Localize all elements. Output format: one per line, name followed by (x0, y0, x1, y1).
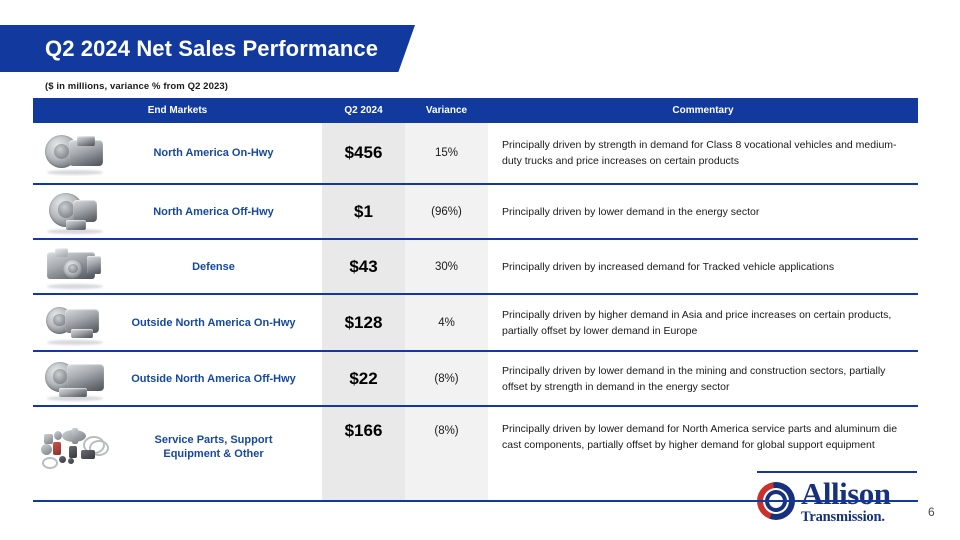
row-thumbnail (33, 352, 111, 405)
end-market-label-line2: Equipment & Other (163, 448, 263, 460)
transmission-on-hwy-icon (43, 133, 107, 173)
end-market-label: Defense (111, 260, 322, 274)
defense-transmission-icon (43, 247, 107, 287)
page-title: Q2 2024 Net Sales Performance (0, 36, 378, 62)
end-market-label: North America Off-Hwy (111, 205, 322, 219)
row-thumbnail (33, 123, 111, 183)
row-thumbnail (33, 295, 111, 350)
end-market-label: Outside North America On-Hwy (111, 316, 322, 330)
row-thumbnail (33, 407, 111, 487)
column-header-end-markets: End Markets (33, 105, 322, 116)
table-header-row: End Markets Q2 2024 Variance Commentary (33, 98, 918, 123)
end-market-label: North America On-Hwy (111, 146, 322, 160)
page-number: 6 (928, 505, 935, 519)
cell-end-market: Outside North America On-Hwy (33, 295, 322, 350)
cell-q2-value: $22 (322, 352, 405, 405)
cell-q2-value: $456 (322, 123, 405, 183)
cell-q2-value: $1 (322, 185, 405, 238)
table-bottom-rule (33, 500, 918, 502)
cell-commentary: Principally driven by increased demand f… (488, 240, 918, 293)
end-market-label: Outside North America Off-Hwy (111, 372, 322, 386)
cell-variance-value: (8%) (405, 407, 488, 487)
transmission-off-hwy-icon (43, 192, 107, 232)
row-thumbnail (33, 240, 111, 293)
cell-end-market: Service Parts, Support Equipment & Other (33, 407, 322, 487)
table-row: Outside North America Off-Hwy $22 (8%) P… (33, 352, 918, 407)
net-sales-table: End Markets Q2 2024 Variance Commentary … (33, 98, 918, 502)
table-body: North America On-Hwy $456 15% Principall… (33, 123, 918, 487)
table-row: North America On-Hwy $456 15% Principall… (33, 123, 918, 185)
cell-variance-value: 4% (405, 295, 488, 350)
cell-commentary: Principally driven by higher demand in A… (488, 295, 918, 350)
slide-subtitle: ($ in millions, variance % from Q2 2023) (45, 81, 228, 92)
cell-variance-value: (96%) (405, 185, 488, 238)
cell-q2-value: $43 (322, 240, 405, 293)
table-row: Defense $43 30% Principally driven by in… (33, 240, 918, 295)
column-header-commentary: Commentary (488, 105, 918, 116)
cell-variance-value: (8%) (405, 352, 488, 405)
cell-commentary: Principally driven by lower demand in th… (488, 185, 918, 238)
logo-secondary-text: Transmission. (801, 510, 891, 525)
cell-variance-value: 30% (405, 240, 488, 293)
cell-q2-value: $166 (322, 407, 405, 487)
slide-title-banner: Q2 2024 Net Sales Performance (0, 25, 415, 72)
cell-end-market: Outside North America Off-Hwy (33, 352, 322, 405)
cell-end-market: North America Off-Hwy (33, 185, 322, 238)
table-row: North America Off-Hwy $1 (96%) Principal… (33, 185, 918, 240)
cell-commentary: Principally driven by strength in demand… (488, 123, 918, 183)
cell-end-market: Defense (33, 240, 322, 293)
service-parts-icon (39, 426, 111, 468)
end-market-label: Service Parts, Support Equipment & Other (111, 433, 322, 461)
cell-end-market: North America On-Hwy (33, 123, 322, 183)
end-market-label-line1: Service Parts, Support (155, 434, 273, 446)
column-header-variance: Variance (405, 105, 488, 116)
transmission-outside-off-hwy-icon (43, 359, 107, 399)
table-row: Service Parts, Support Equipment & Other… (33, 407, 918, 487)
transmission-outside-on-hwy-icon (43, 303, 107, 343)
row-thumbnail (33, 185, 111, 238)
cell-commentary: Principally driven by lower demand for N… (488, 407, 918, 487)
cell-commentary: Principally driven by lower demand in th… (488, 352, 918, 405)
cell-variance-value: 15% (405, 123, 488, 183)
cell-q2-value: $128 (322, 295, 405, 350)
table-row: Outside North America On-Hwy $128 4% Pri… (33, 295, 918, 352)
column-header-q2-2024: Q2 2024 (322, 105, 405, 116)
